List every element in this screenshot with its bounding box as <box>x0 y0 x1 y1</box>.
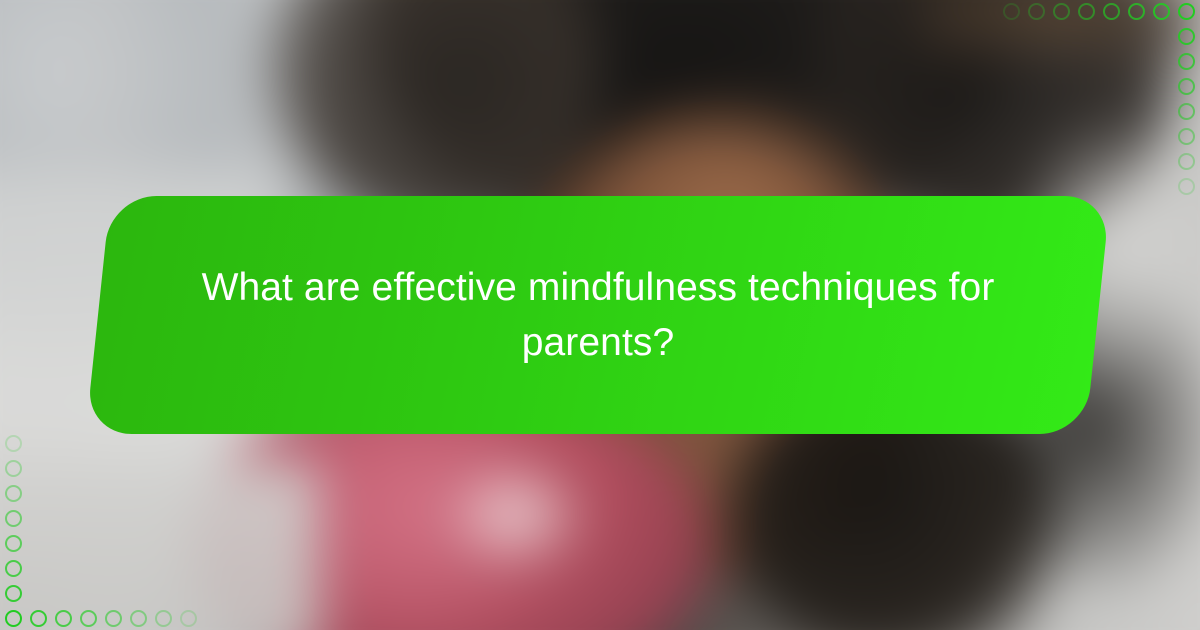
question-text: What are effective mindfulness technique… <box>98 196 1098 434</box>
background-shelf <box>920 0 1200 50</box>
background-floor <box>0 460 320 630</box>
share-card-canvas: What are effective mindfulness technique… <box>0 0 1200 630</box>
question-banner: What are effective mindfulness technique… <box>98 196 1098 434</box>
background-specular-highlight <box>440 460 590 570</box>
